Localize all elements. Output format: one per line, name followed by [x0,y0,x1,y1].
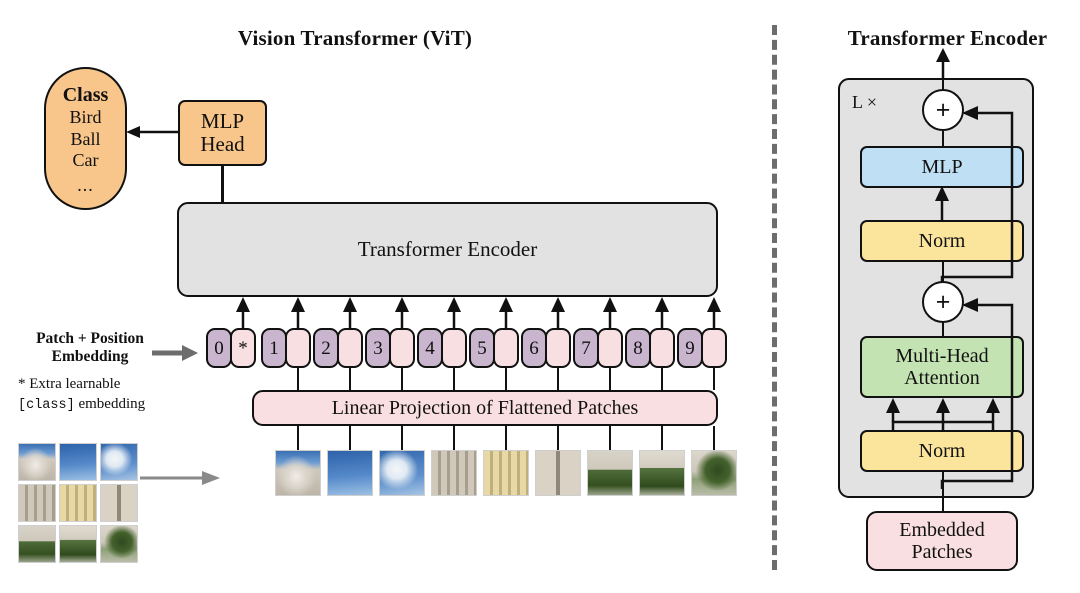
encoder-output-arrow [934,48,952,82]
flattened-patch-5 [483,450,529,496]
panel-divider [772,25,777,570]
flattened-patch-9 [691,450,737,496]
residual-path-bottom [938,297,1020,489]
flattened-patch-2 [327,450,373,496]
flattened-patch-6 [535,450,581,496]
source-grid-patch-4 [18,484,56,522]
source-grid-patch-6 [100,484,138,522]
embedded-patches-line1: Embedded [899,519,985,541]
source-grid-patch-3 [100,443,138,481]
flattened-patch-8 [639,450,685,496]
source-grid-patch-2 [59,443,97,481]
flattened-patch-7 [587,450,633,496]
source-grid-patch-1 [18,443,56,481]
residual-path-top [938,105,1020,285]
source-image-and-patches [0,0,760,593]
connector-embedded-to-normbottom [942,472,945,511]
source-grid-patch-9 [100,525,138,563]
source-grid-patch-7 [18,525,56,563]
connector-addbottom-to-normtop [942,262,945,283]
source-grid-patch-8 [59,525,97,563]
connector-addtop-to-output [942,78,945,91]
flattened-patch-4 [431,450,477,496]
flattened-patch-1 [275,450,321,496]
source-grid-patch-5 [59,484,97,522]
encoder-repeat-label: L × [852,92,877,113]
embedded-patches-line2: Patches [911,541,972,563]
embedded-patches-block: Embedded Patches [866,511,1018,571]
flattened-patch-3 [379,450,425,496]
